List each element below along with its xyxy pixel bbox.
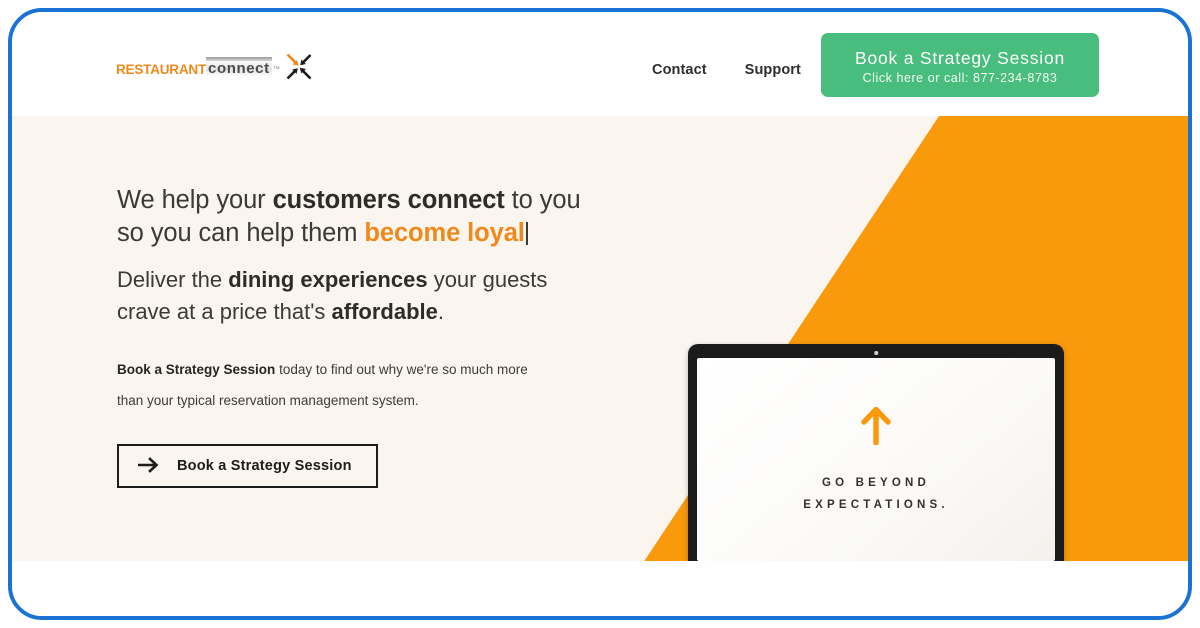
logo-text-restaurant: RESTAURANT xyxy=(116,62,206,77)
logo-connect-wrap: connect xyxy=(206,60,272,78)
hero-cta-label: Book a Strategy Session xyxy=(177,458,352,474)
nav-link-support[interactable]: Support xyxy=(745,62,801,78)
subhead-part-3: . xyxy=(438,299,444,324)
hero-book-strategy-session-button[interactable]: Book a Strategy Session xyxy=(117,444,378,488)
site-header: RESTAURANT connect ™ xyxy=(12,12,1188,116)
body-bold-book-a-strategy-session: Book a Strategy Session xyxy=(117,362,275,377)
subhead-bold-affordable: affordable xyxy=(332,299,438,324)
laptop-lid: GO BEYOND EXPECTATIONS. xyxy=(688,344,1064,569)
hero-headline: We help your customers connect to you so… xyxy=(117,184,587,250)
headline-part-1: We help your xyxy=(117,186,273,214)
arrow-up-icon xyxy=(858,403,894,450)
header-book-strategy-session-button[interactable]: Book a Strategy Session Click here or ca… xyxy=(821,33,1099,97)
nav-link-contact[interactable]: Contact xyxy=(652,62,707,78)
logo-connect-bar xyxy=(206,57,272,61)
hero-copy: We help your customers connect to you so… xyxy=(117,184,587,488)
subhead-part-1: Deliver the xyxy=(117,267,228,292)
screen-tagline-line-1: GO BEYOND xyxy=(822,472,930,494)
bottom-white-strip xyxy=(12,561,1188,616)
converging-arrows-icon xyxy=(284,52,314,87)
laptop-mockup: GO BEYOND EXPECTATIONS. xyxy=(660,344,1072,569)
header-cta-subtitle: Click here or call: 877-234-8783 xyxy=(863,71,1058,85)
hero-section: We help your customers connect to you so… xyxy=(12,116,1188,569)
webcam-icon xyxy=(874,351,878,355)
logo-trademark: ™ xyxy=(273,66,280,73)
arrow-right-icon xyxy=(137,457,159,476)
laptop-screen: GO BEYOND EXPECTATIONS. xyxy=(697,358,1055,561)
logo-text-connect: connect xyxy=(206,60,272,77)
main-nav: Contact Support xyxy=(652,62,801,78)
page-frame: RESTAURANT connect ™ xyxy=(8,8,1192,620)
hero-subheadline: Deliver the dining experiences your gues… xyxy=(117,264,587,328)
typing-caret xyxy=(526,222,528,245)
hero-body-paragraph: Book a Strategy Session today to find ou… xyxy=(117,354,547,416)
subhead-bold-dining-experiences: dining experiences xyxy=(228,267,427,292)
headline-bold-customers-connect: customers connect xyxy=(273,186,505,214)
brand-logo[interactable]: RESTAURANT connect ™ xyxy=(116,52,314,86)
header-cta-title: Book a Strategy Session xyxy=(855,48,1065,69)
headline-highlight-become-loyal: become loyal xyxy=(364,219,524,247)
screen-tagline-line-2: EXPECTATIONS. xyxy=(803,494,949,516)
